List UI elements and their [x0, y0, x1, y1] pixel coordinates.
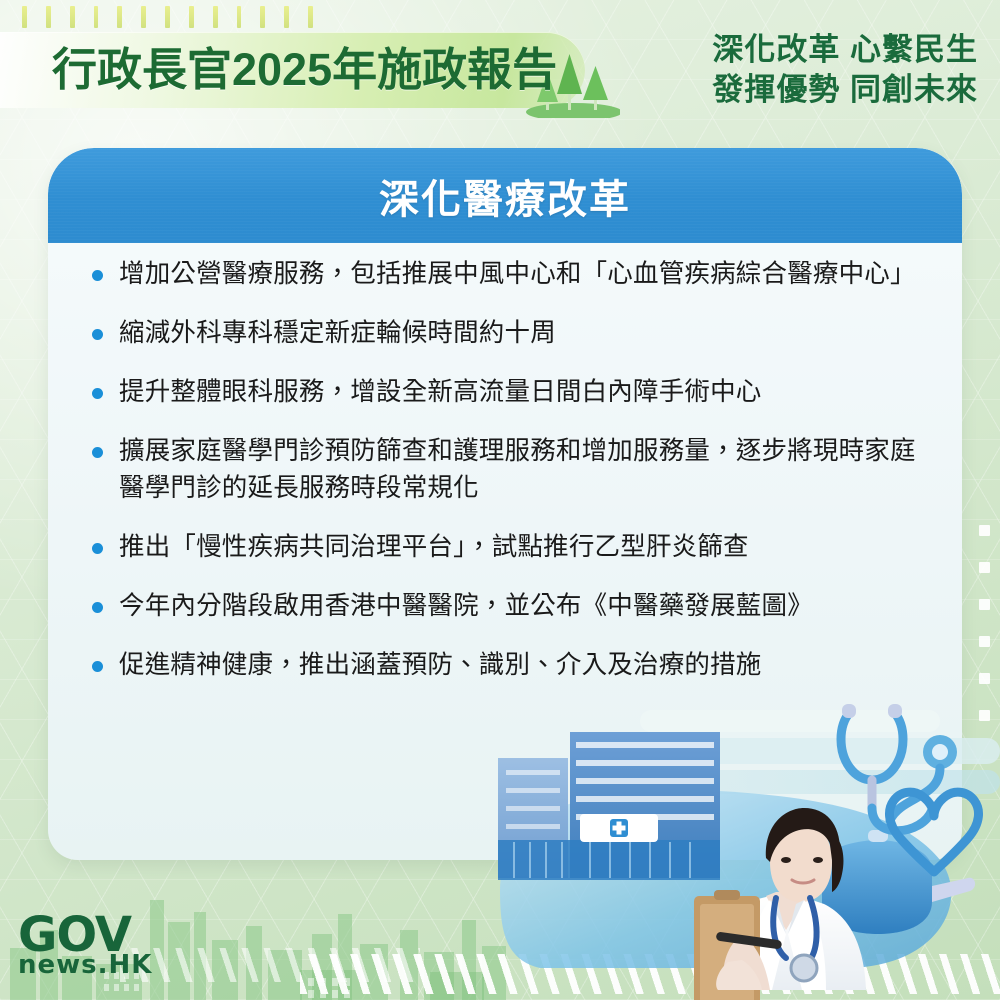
list-item-text: 增加公營醫療服務，包括推展中風中心和「心血管疾病綜合醫療中心」 — [119, 256, 924, 293]
page-title: 行政長官2025年施政報告 — [52, 40, 572, 100]
infographic-root: 行政長官2025年施政報告 深化改革 心繫民生 發揮優勢 同創未來 深化醫療改革… — [0, 0, 1000, 1000]
section-title: 深化醫療改革 — [48, 148, 962, 243]
bullet-dot-icon — [92, 543, 103, 554]
list-item-text: 今年內分階段啟用香港中醫醫院，並公布《中醫藥發展藍圖》 — [119, 588, 924, 625]
bullet-dot-icon — [92, 661, 103, 672]
bullet-list: 增加公營醫療服務，包括推展中風中心和「心血管疾病綜合醫療中心」 縮減外科專科穩定… — [88, 256, 924, 706]
list-item: 擴展家庭醫學門診預防篩查和護理服務和增加服務量，逐步將現時家庭醫學門診的延長服務… — [88, 433, 924, 507]
bullet-dot-icon — [92, 270, 103, 281]
list-item-text: 提升整體眼科服務，增設全新高流量日間白內障手術中心 — [119, 374, 924, 411]
medical-cross-icon — [610, 819, 628, 837]
list-item: 推出「慢性疾病共同治理平台」，試點推行乙型肝炎篩查 — [88, 529, 924, 566]
list-item-text: 縮減外科專科穩定新症輪候時間約十周 — [119, 315, 924, 352]
list-item-text: 擴展家庭醫學門診預防篩查和護理服務和增加服務量，逐步將現時家庭醫學門診的延長服務… — [119, 433, 924, 507]
slogan-line-1: 深化改革 心繫民生 — [712, 30, 978, 70]
bullet-dot-icon — [92, 602, 103, 613]
logo-secondary-text: news.HK — [18, 952, 178, 978]
bullet-dot-icon — [92, 388, 103, 399]
chinese-medicine-teapot-icon — [822, 830, 975, 934]
list-item: 增加公營醫療服務，包括推展中風中心和「心血管疾病綜合醫療中心」 — [88, 256, 924, 293]
bullet-dot-icon — [92, 447, 103, 458]
list-item: 今年內分階段啟用香港中醫醫院，並公布《中醫藥發展藍圖》 — [88, 588, 924, 625]
slogan: 深化改革 心繫民生 發揮優勢 同創未來 — [712, 30, 978, 110]
govhk-logo[interactable]: GOV news.HK — [18, 914, 178, 978]
bullet-dot-icon — [92, 329, 103, 340]
top-tick-marks — [22, 6, 332, 32]
healthcare-illustration — [470, 690, 1000, 1000]
slogan-line-2: 發揮優勢 同創未來 — [712, 70, 978, 110]
list-item: 縮減外科專科穩定新症輪候時間約十周 — [88, 315, 924, 352]
hospital-building-icon — [498, 732, 720, 880]
list-item-text: 促進精神健康，推出涵蓋預防、識別、介入及治療的措施 — [119, 647, 924, 684]
list-item: 提升整體眼科服務，增設全新高流量日間白內障手術中心 — [88, 374, 924, 411]
list-item-text: 推出「慢性疾病共同治理平台」，試點推行乙型肝炎篩查 — [119, 529, 924, 566]
list-item: 促進精神健康，推出涵蓋預防、識別、介入及治療的措施 — [88, 647, 924, 684]
